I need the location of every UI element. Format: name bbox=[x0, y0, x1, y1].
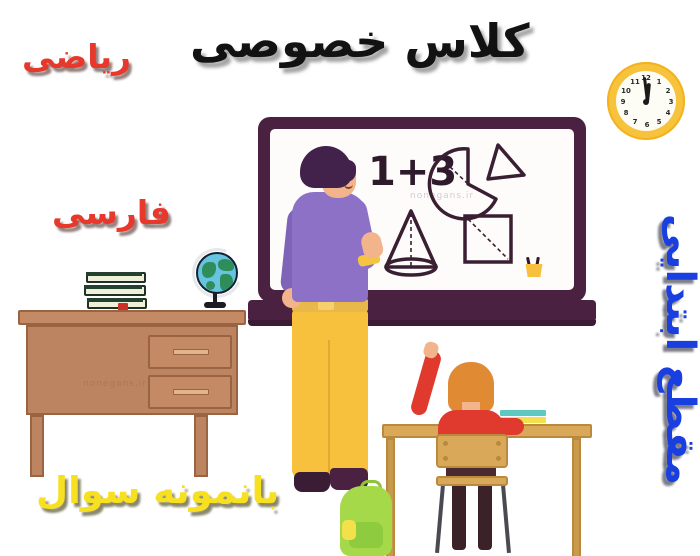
backpack bbox=[340, 478, 394, 556]
student-desk-leg bbox=[572, 438, 581, 556]
clock-number: 6 bbox=[642, 121, 652, 129]
square-diagonal-icon bbox=[460, 211, 520, 271]
chair-back bbox=[436, 434, 508, 468]
teacher-desk: nonegans.ir bbox=[18, 310, 246, 478]
teacher-shoe-left bbox=[294, 472, 330, 492]
clock-number: 3 bbox=[666, 98, 676, 106]
clock-number: 2 bbox=[663, 87, 673, 95]
drawer-handle bbox=[173, 389, 209, 395]
desk-watermark: nonegans.ir bbox=[83, 379, 147, 389]
book bbox=[84, 285, 146, 296]
clock-number: 4 bbox=[663, 109, 673, 117]
student-raised-arm bbox=[409, 349, 443, 417]
clock-number: 5 bbox=[654, 118, 664, 126]
desk-top bbox=[18, 310, 246, 325]
desk-body: nonegans.ir bbox=[26, 325, 238, 415]
student-leg bbox=[452, 480, 466, 550]
teacher-hair bbox=[300, 146, 352, 188]
book bbox=[87, 298, 147, 309]
wall-clock: 12 1 2 3 4 5 6 7 8 9 10 11 bbox=[607, 62, 685, 140]
clock-number: 11 bbox=[630, 78, 640, 86]
book-stack bbox=[84, 272, 148, 312]
clock-number: 1 bbox=[654, 78, 664, 86]
globe bbox=[188, 248, 244, 310]
globe-ring bbox=[184, 240, 249, 305]
desk-drawer[interactable] bbox=[148, 335, 232, 369]
drawer-handle bbox=[173, 349, 209, 355]
globe-base bbox=[204, 302, 226, 308]
clock-center-pin bbox=[643, 99, 649, 105]
clock-number: 10 bbox=[621, 87, 631, 95]
clock-number: 9 bbox=[618, 98, 628, 106]
grade-level-label: مقطع ابتدایی bbox=[660, 155, 700, 485]
chair-leg bbox=[435, 485, 445, 553]
book bbox=[86, 272, 146, 283]
desk-leg bbox=[194, 415, 208, 477]
teacher-pants bbox=[292, 310, 368, 478]
chair-seat bbox=[436, 476, 508, 486]
page-title: کلاس خصوصی bbox=[190, 18, 529, 64]
backpack-clip bbox=[342, 520, 356, 540]
clock-number: 8 bbox=[621, 109, 631, 117]
desk-leg bbox=[30, 415, 44, 477]
desk-drawer[interactable] bbox=[148, 375, 232, 409]
subject-label-farsi: فارسی bbox=[52, 196, 171, 229]
sample-questions-note: بانمونه سوال bbox=[36, 472, 279, 509]
student-figure bbox=[400, 340, 540, 556]
poster-canvas: 1+3 nonegans.ir bbox=[0, 0, 700, 556]
subject-label-math: ریاضی bbox=[22, 40, 131, 73]
clock-number: 7 bbox=[630, 118, 640, 126]
chair-leg bbox=[501, 485, 511, 553]
pen-cup bbox=[523, 257, 545, 277]
student-leg bbox=[478, 480, 492, 550]
